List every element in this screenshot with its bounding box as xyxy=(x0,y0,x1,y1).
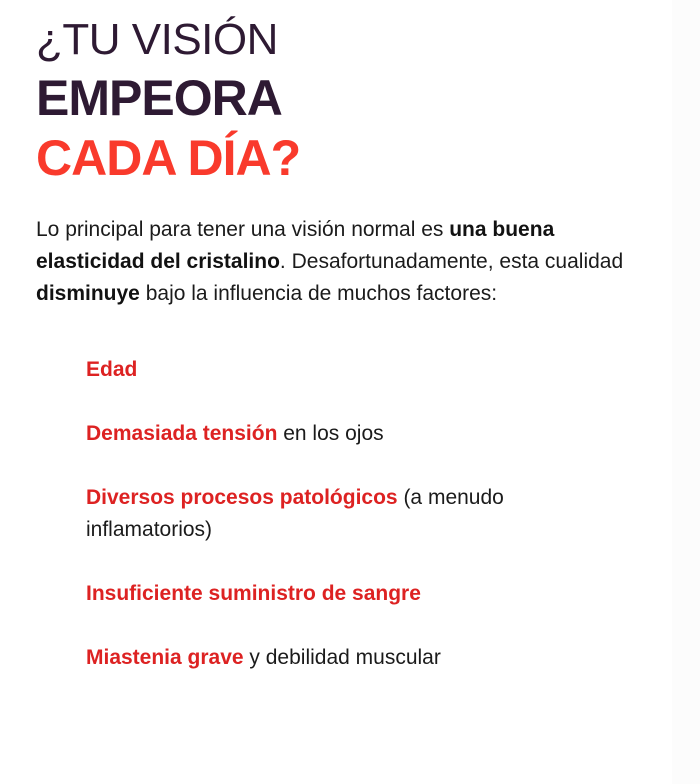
intro-text-part-1: Lo principal para tener una visión norma… xyxy=(36,218,449,241)
intro-emphasis-decreases: disminuye xyxy=(36,282,140,305)
headline-line-1: ¿TU VISIÓN xyxy=(36,12,664,68)
factor-key: Demasiada tensión xyxy=(86,422,277,445)
list-item: Demasiada tensión en los ojos xyxy=(86,418,566,450)
list-item: Insuficiente suministro de sangre xyxy=(86,578,566,610)
intro-paragraph: Lo principal para tener una visión norma… xyxy=(36,214,636,310)
headline-line-2: EMPEORA xyxy=(36,68,664,128)
list-item: Diversos procesos patológicos (a menudo … xyxy=(86,482,566,546)
headline-line-3: CADA DÍA? xyxy=(36,128,664,188)
factor-key: Insuficiente suministro de sangre xyxy=(86,582,421,605)
list-item: Miastenia grave y debilidad muscular xyxy=(86,642,566,674)
factor-key: Diversos procesos patológicos xyxy=(86,486,398,509)
intro-text-part-2: . xyxy=(280,250,286,273)
intro-text-part-3: Desafortunadamente, esta cualidad xyxy=(292,250,624,273)
factor-key: Edad xyxy=(86,358,137,381)
page-root: ¿TU VISIÓN EMPEORA CADA DÍA? Lo principa… xyxy=(0,0,700,784)
factor-list: Edad Demasiada tensión en los ojos Diver… xyxy=(36,354,664,674)
intro-text-part-4: bajo la influencia de muchos factores: xyxy=(140,282,497,305)
factor-detail: y debilidad muscular xyxy=(244,646,441,669)
factor-key: Miastenia grave xyxy=(86,646,244,669)
list-item: Edad xyxy=(86,354,566,386)
page-title: ¿TU VISIÓN EMPEORA CADA DÍA? xyxy=(36,0,664,188)
article-content: ¿TU VISIÓN EMPEORA CADA DÍA? Lo principa… xyxy=(0,0,700,674)
factor-detail: en los ojos xyxy=(277,422,383,445)
